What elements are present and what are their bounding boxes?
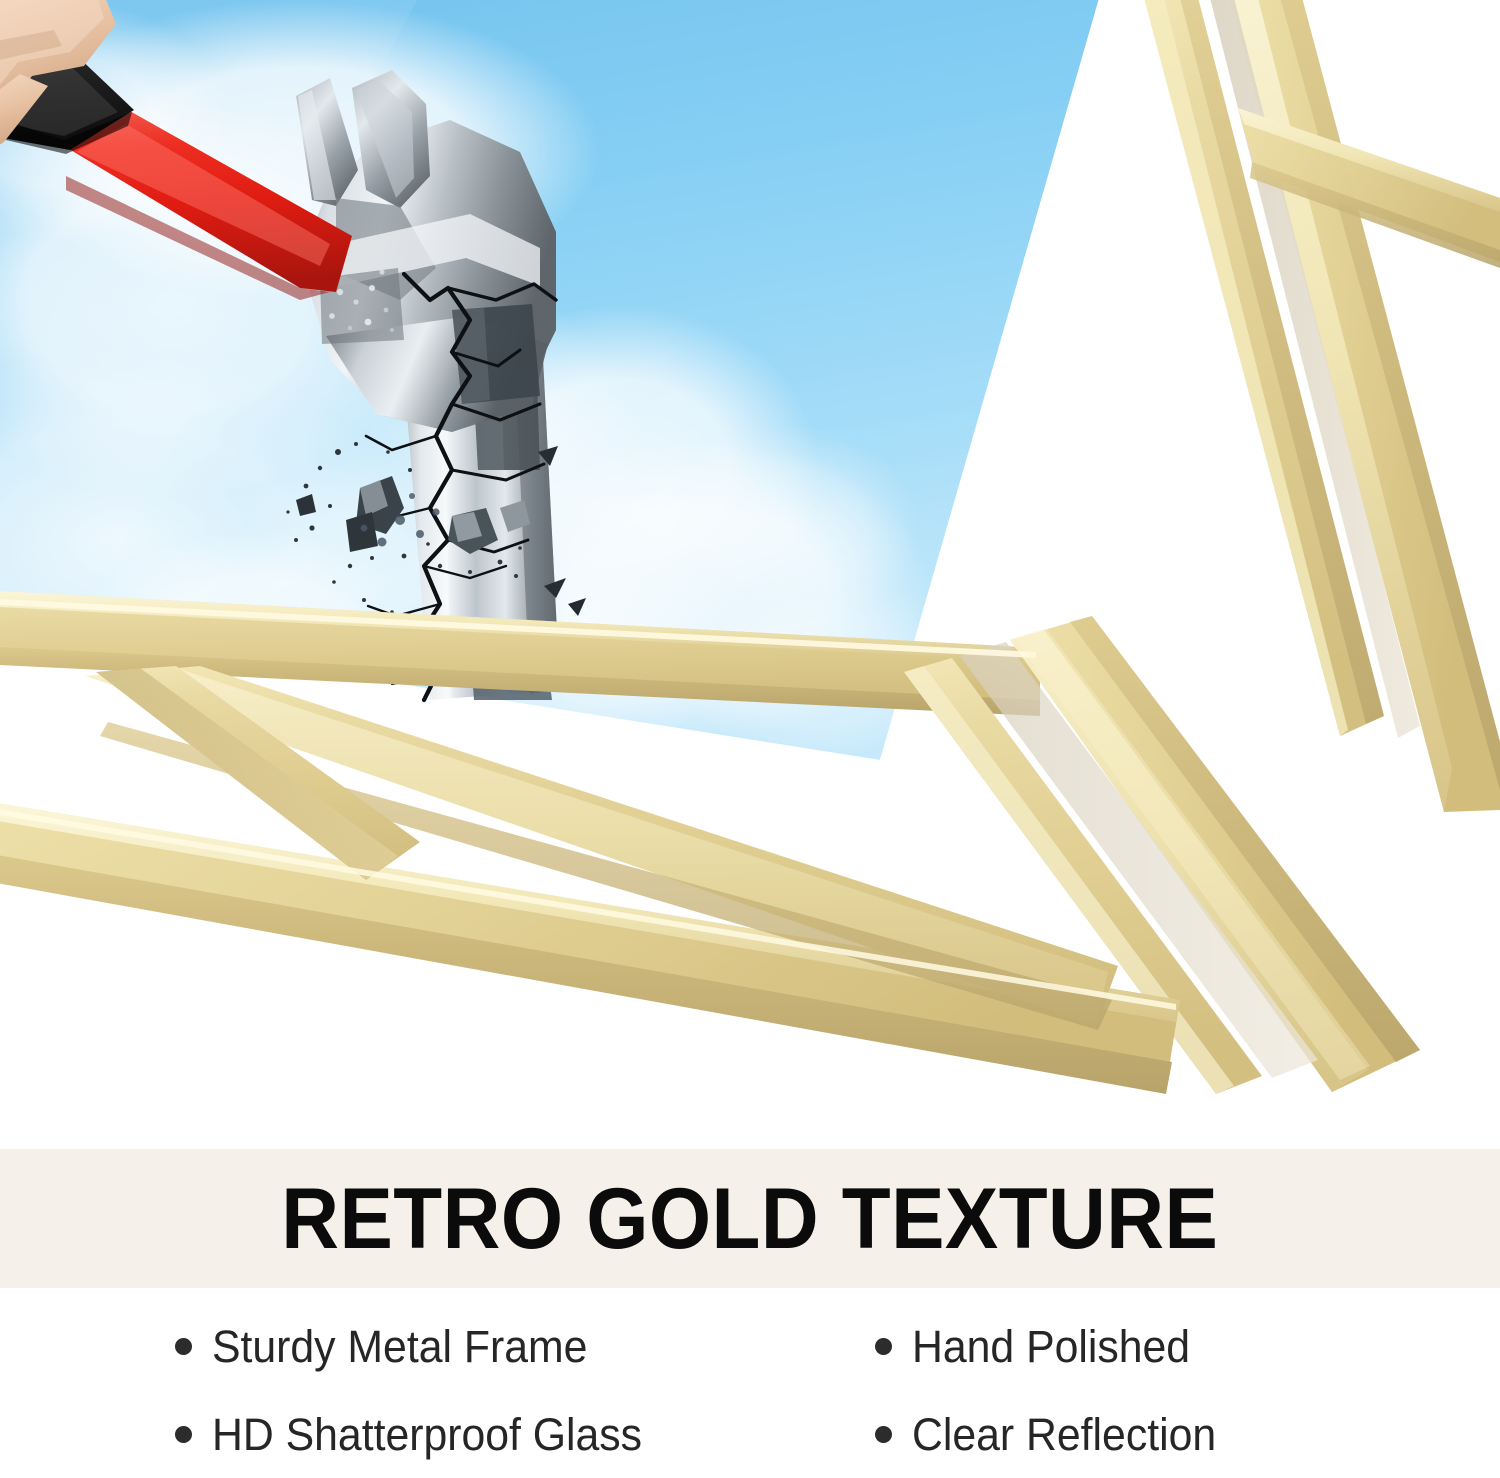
headline-banner: RETRO GOLD TEXTURE	[0, 1149, 1500, 1288]
feature-item-hand-polished: Hand Polished	[875, 1302, 1500, 1390]
hero-illustration	[0, 0, 1500, 1149]
bullet-icon	[175, 1426, 192, 1443]
feature-item-clear-reflection: Clear Reflection	[875, 1390, 1500, 1478]
feature-list: Sturdy Metal Frame Hand Polished HD Shat…	[0, 1288, 1500, 1464]
feature-item-sturdy-metal-frame: Sturdy Metal Frame	[175, 1302, 875, 1390]
feature-label: Clear Reflection	[912, 1412, 1216, 1457]
bullet-icon	[875, 1426, 892, 1443]
bullet-icon	[175, 1338, 192, 1355]
feature-item-hd-shatterproof-glass: HD Shatterproof Glass	[175, 1390, 875, 1478]
feature-label: Hand Polished	[912, 1324, 1190, 1369]
hero-photo	[0, 0, 1500, 1149]
bullet-icon	[875, 1338, 892, 1355]
page-title: RETRO GOLD TEXTURE	[281, 1176, 1218, 1262]
feature-label: Sturdy Metal Frame	[212, 1324, 587, 1369]
feature-label: HD Shatterproof Glass	[212, 1412, 642, 1457]
product-image-stage: RETRO GOLD TEXTURE Sturdy Metal Frame Ha…	[0, 0, 1500, 1464]
